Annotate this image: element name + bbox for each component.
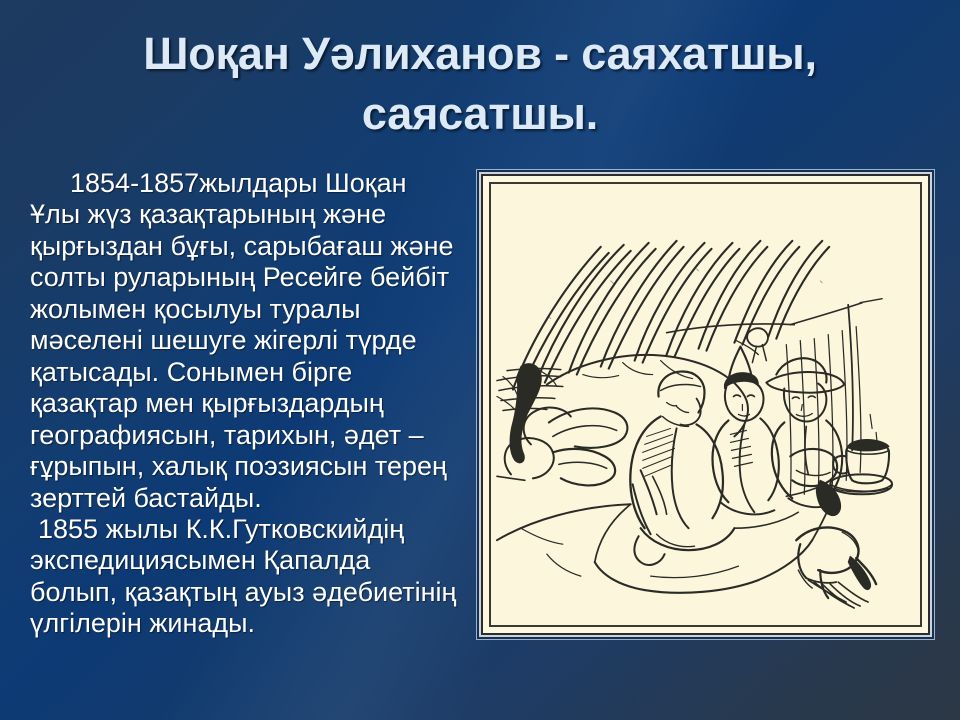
slide-title-line-1: Шоқан Уәлиханов - саяхатшы, [40, 24, 920, 84]
slide-title-line-2: саясатшы. [40, 84, 920, 144]
illustration-frame [481, 174, 930, 635]
body-paragraph-1: 1854-1857жылдары Шоқан Ұлы жүз қазақтары… [30, 168, 462, 514]
yurt-interior-sketch-icon [491, 184, 920, 625]
slide-body-text: 1854-1857жылдары Шоқан Ұлы жүз қазақтары… [30, 168, 462, 640]
body-paragraph-2: 1855 жылы К.К.Гутковскийдің экспедициясы… [30, 514, 462, 640]
illustration-inner-border [489, 182, 922, 627]
slide-title: Шоқан Уәлиханов - саяхатшы, саясатшы. [40, 24, 920, 144]
presentation-slide: Шоқан Уәлиханов - саяхатшы, саясатшы. 18… [0, 0, 960, 720]
